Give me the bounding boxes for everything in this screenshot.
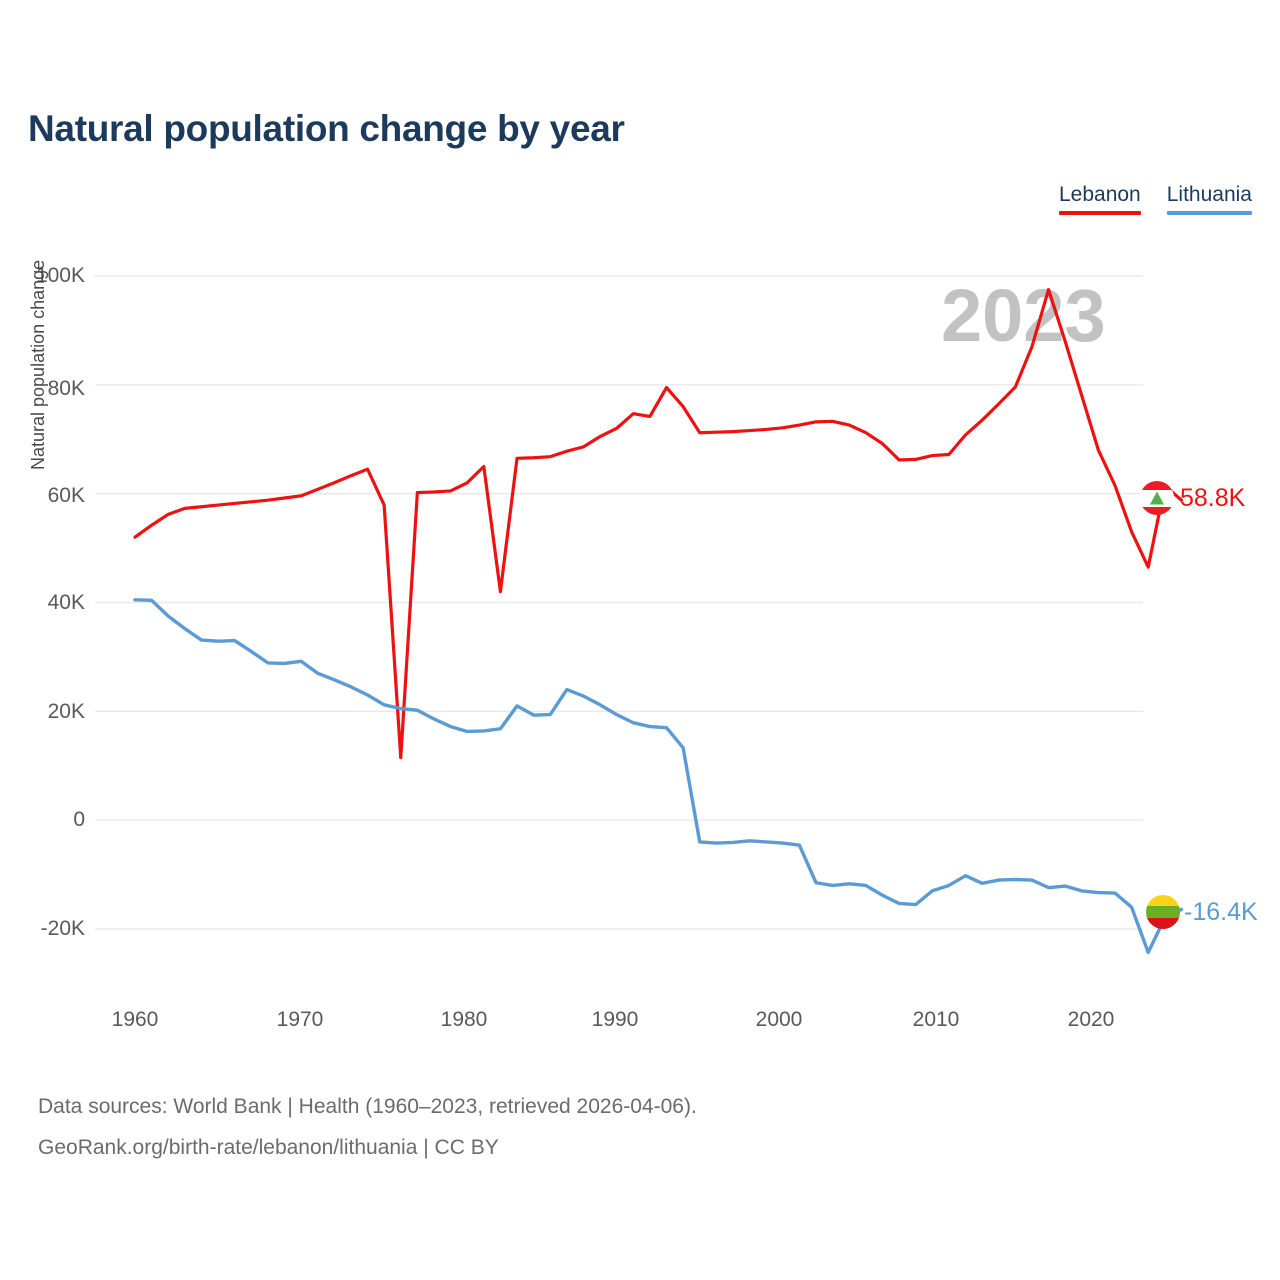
series-line-lebanon xyxy=(135,290,1181,758)
footer: Data sources: World Bank | Health (1960–… xyxy=(38,1086,697,1168)
end-label-lebanon: 58.8K xyxy=(1140,481,1245,515)
end-value-lebanon: 58.8K xyxy=(1180,484,1245,513)
page-title: Natural population change by year xyxy=(28,108,625,150)
chart-page: Natural population change by year Lebano… xyxy=(0,0,1280,1280)
footer-line-1: Data sources: World Bank | Health (1960–… xyxy=(38,1086,697,1127)
legend-label-lithuania: Lithuania xyxy=(1167,182,1252,208)
gridlines xyxy=(95,276,1143,929)
y-tick-neg20k: -20K xyxy=(41,917,85,941)
chart-svg xyxy=(95,268,1143,1020)
legend-item-lithuania[interactable]: Lithuania xyxy=(1167,182,1252,215)
y-tick-60k: 60K xyxy=(48,484,85,508)
series-lines xyxy=(135,290,1181,953)
y-tick-40k: 40K xyxy=(48,591,85,615)
series-line-lithuania xyxy=(135,600,1181,953)
y-axis-title: Natural population change xyxy=(28,260,49,470)
end-label-lithuania: -16.4K xyxy=(1146,895,1258,929)
plot-area xyxy=(95,268,1143,1020)
legend-label-lebanon: Lebanon xyxy=(1059,182,1141,208)
y-tick-80k: 80K xyxy=(48,377,85,401)
legend-item-lebanon[interactable]: Lebanon xyxy=(1059,182,1141,215)
end-value-lithuania: -16.4K xyxy=(1184,898,1258,927)
legend-swatch-lebanon xyxy=(1059,211,1141,215)
y-tick-20k: 20K xyxy=(48,700,85,724)
chart-legend: Lebanon Lithuania xyxy=(1059,182,1252,215)
legend-swatch-lithuania xyxy=(1167,211,1252,215)
footer-line-2: GeoRank.org/birth-rate/lebanon/lithuania… xyxy=(38,1127,697,1168)
lebanon-flag-icon xyxy=(1140,481,1174,515)
lithuania-flag-icon xyxy=(1146,895,1180,929)
y-tick-0: 0 xyxy=(73,808,85,832)
